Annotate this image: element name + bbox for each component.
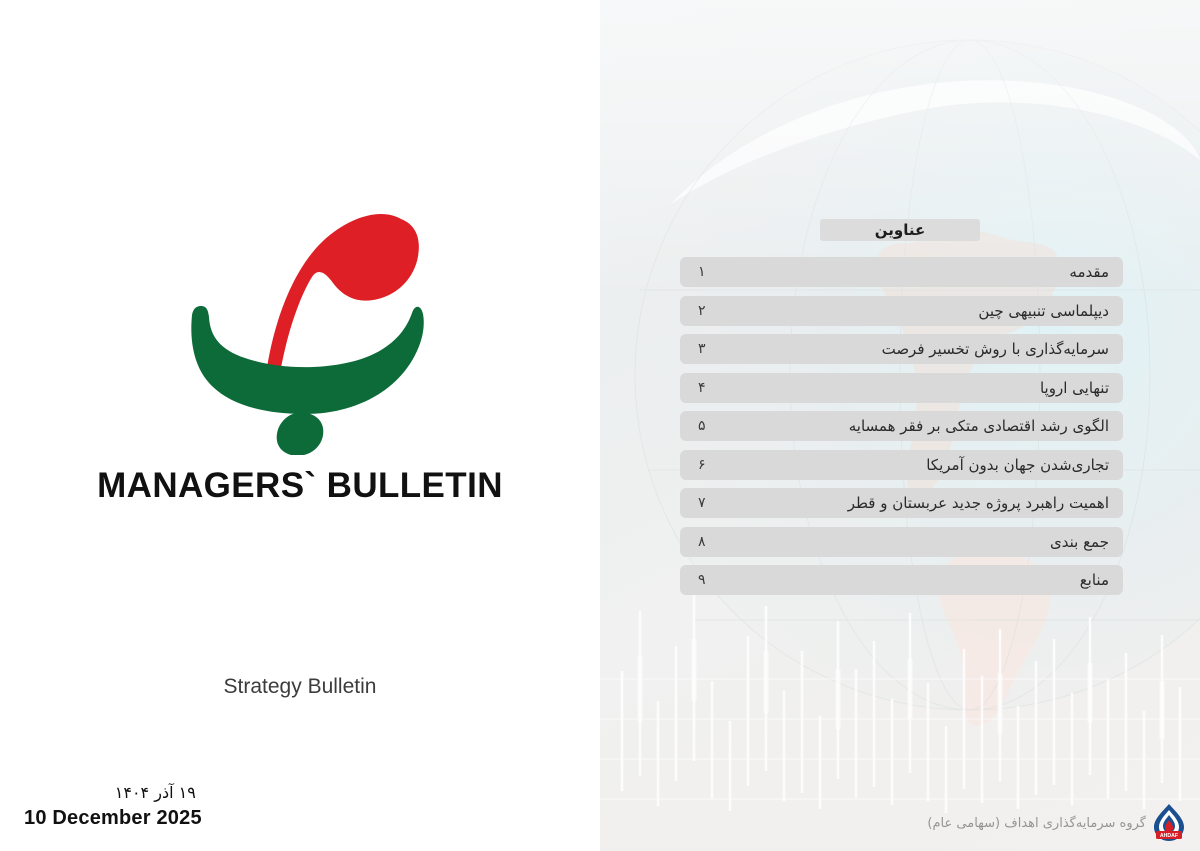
toc-row[interactable]: مقدمه ۱ (680, 257, 1123, 287)
toc-row-title: مقدمه (1069, 263, 1123, 281)
toc-row-title: تنهایی اروپا (1040, 379, 1123, 397)
date-gregorian: 10 December 2025 (24, 806, 202, 831)
toc-row-number: ۵ (698, 411, 706, 441)
subtitle: Strategy Bulletin (0, 675, 600, 699)
ahdaf-emblem-label: AHDAF (1160, 833, 1178, 839)
toc-header-bar: عناوین (820, 219, 980, 241)
toc-row-list: مقدمه ۱ دیپلماسی تنبیهی چین ۲ سرمایه‌گذا… (680, 257, 1123, 604)
brand-logo (165, 205, 445, 455)
toc-header-label: عناوین (875, 223, 925, 238)
date-block: ۱۹ آذر ۱۴۰۴ 10 December 2025 (24, 782, 202, 831)
table-of-contents: عناوین مقدمه ۱ دیپلماسی تنبیهی چین ۲ سرم… (600, 0, 1200, 851)
toc-row[interactable]: تنهایی اروپا ۴ (680, 373, 1123, 403)
right-panel: عناوین مقدمه ۱ دیپلماسی تنبیهی چین ۲ سرم… (600, 0, 1200, 851)
toc-row-title: تجاری‌شدن جهان بدون آمریکا (926, 456, 1123, 474)
toc-row-title: منابع (1080, 571, 1123, 589)
logo-green-dot (277, 413, 324, 455)
toc-row-title: الگوی رشد اقتصادی متکی بر فقر همسایه (849, 417, 1123, 435)
toc-row-number: ۴ (698, 373, 706, 403)
cover-slide: MANAGERS` BULLETIN Strategy Bulletin ۱۹ … (0, 0, 1200, 851)
toc-row-title: جمع بندی (1050, 533, 1123, 551)
wordmark: MANAGERS` BULLETIN (0, 466, 600, 506)
toc-row[interactable]: الگوی رشد اقتصادی متکی بر فقر همسایه ۵ (680, 411, 1123, 441)
toc-row[interactable]: دیپلماسی تنبیهی چین ۲ (680, 296, 1123, 326)
toc-row[interactable]: اهمیت راهبرد پروژه جدید عربستان و قطر ۷ (680, 488, 1123, 518)
toc-row-title: دیپلماسی تنبیهی چین (978, 302, 1123, 320)
left-panel: MANAGERS` BULLETIN Strategy Bulletin ۱۹ … (0, 0, 600, 851)
toc-row-number: ۷ (698, 488, 706, 518)
logo-green-bowl (191, 306, 423, 414)
toc-row-number: ۹ (698, 565, 706, 595)
toc-row-number: ۸ (698, 527, 706, 557)
company-watermark: AHDAF گروه سرمایه‌گذاری اهداف (سهامی عام… (927, 803, 1186, 843)
date-persian: ۱۹ آذر ۱۴۰۴ (24, 782, 202, 804)
toc-row[interactable]: منابع ۹ (680, 565, 1123, 595)
toc-row-title: سرمایه‌گذاری با روش تخسیر فرصت (882, 340, 1123, 358)
toc-row-number: ۳ (698, 334, 706, 364)
toc-row-number: ۲ (698, 296, 706, 326)
company-name-label: گروه سرمایه‌گذاری اهداف (سهامی عام) (927, 816, 1146, 831)
toc-row[interactable]: سرمایه‌گذاری با روش تخسیر فرصت ۳ (680, 334, 1123, 364)
toc-row[interactable]: جمع بندی ۸ (680, 527, 1123, 557)
toc-row-number: ۱ (698, 257, 706, 287)
toc-row[interactable]: تجاری‌شدن جهان بدون آمریکا ۶ (680, 450, 1123, 480)
toc-row-title: اهمیت راهبرد پروژه جدید عربستان و قطر (848, 494, 1123, 512)
toc-row-number: ۶ (698, 450, 706, 480)
ahdaf-shield-icon: AHDAF (1152, 803, 1186, 843)
